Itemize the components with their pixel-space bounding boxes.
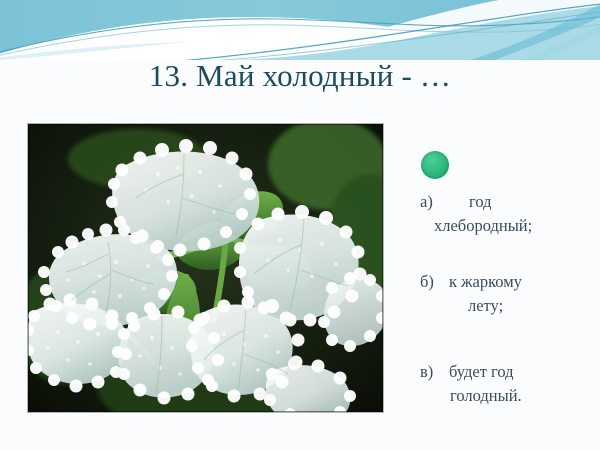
- answer-option-c[interactable]: в)будет год голодный.: [408, 360, 596, 408]
- answer-b-text-line1: к жаркому: [449, 272, 522, 291]
- answer-b-text-line2: лету;: [408, 294, 596, 318]
- answer-c-text-line2: голодный.: [408, 384, 596, 408]
- answer-option-a[interactable]: а)год хлебородный;: [408, 190, 596, 238]
- answer-option-b[interactable]: б)к жаркому лету;: [408, 270, 596, 318]
- header-wave-decoration: [0, 0, 600, 60]
- answer-c-text-line1: будет год: [449, 362, 514, 381]
- quiz-slide: 13. Май холодный - …: [0, 0, 600, 450]
- frost-leaves-illustration: [28, 124, 383, 412]
- answer-c-label: в): [420, 360, 449, 384]
- selected-answer-bullet[interactable]: [421, 151, 449, 179]
- answer-a-label: а): [420, 190, 469, 214]
- page-title: 13. Май холодный - …: [0, 56, 600, 96]
- frost-leaves-photo: [28, 124, 383, 412]
- answer-a-text-line2: хлебородный;: [408, 214, 596, 238]
- answer-a-text-line1: год: [469, 192, 492, 211]
- answer-b-label: б): [420, 270, 449, 294]
